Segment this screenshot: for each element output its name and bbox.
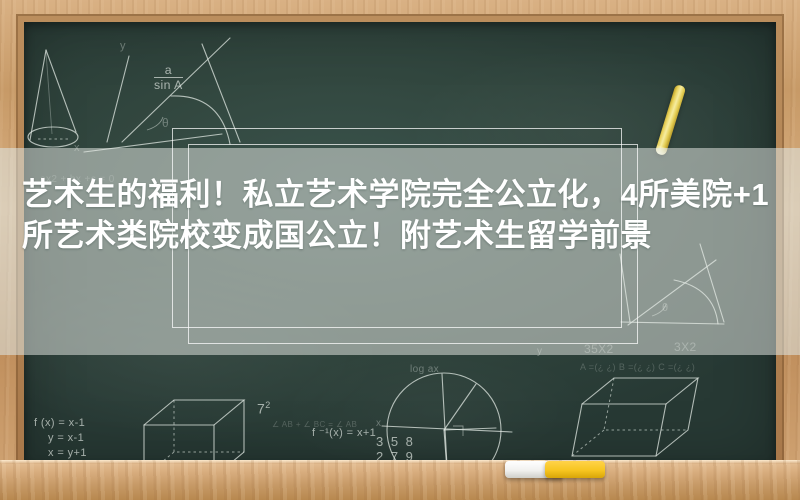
chalkboard-cover-stage: asin A y x θ ax2 + bx +c = 0 θ 35X2 3X2 … <box>0 0 800 500</box>
set-notation: A =(¿ ¿) B =(¿ ¿) C =(¿ ¿) <box>580 362 695 372</box>
frame-bottom-ledge <box>0 460 800 500</box>
function-line-3: x = y+1 <box>48 447 87 459</box>
cone-drawing <box>28 50 78 147</box>
function-line-1: f (x) = x-1 <box>34 417 85 429</box>
axis-x-label-right: x <box>376 418 381 429</box>
exponent-note-1: 72 <box>257 400 271 417</box>
function-line-2: y = x-1 <box>48 432 84 444</box>
title-overlay-band: 艺术生的福利！私立艺术学院完全公立化，4所美院+1所艺术类院校变成国公立！附艺术… <box>0 148 800 355</box>
ledge-highlight <box>0 460 800 464</box>
angle-theta-label: θ <box>162 116 169 130</box>
cube-wireframe-left <box>144 400 244 464</box>
cube-wireframe-right <box>572 378 698 456</box>
axis-y-label: y <box>120 40 126 52</box>
law-of-sines-formula: asin A <box>154 64 183 92</box>
log-note: log ax <box>410 364 439 375</box>
yellow-chalk-eraser[interactable] <box>545 461 605 478</box>
coordinate-axes-with-arc <box>84 38 240 152</box>
page-title: 艺术生的福利！私立艺术学院完全公立化，4所美院+1所艺术类院校变成国公立！附艺术… <box>22 174 786 256</box>
inverse-function-note: f ⁻¹(x) = x+1 <box>312 426 376 439</box>
long-division-row-1: 3 5 8 <box>376 434 415 449</box>
